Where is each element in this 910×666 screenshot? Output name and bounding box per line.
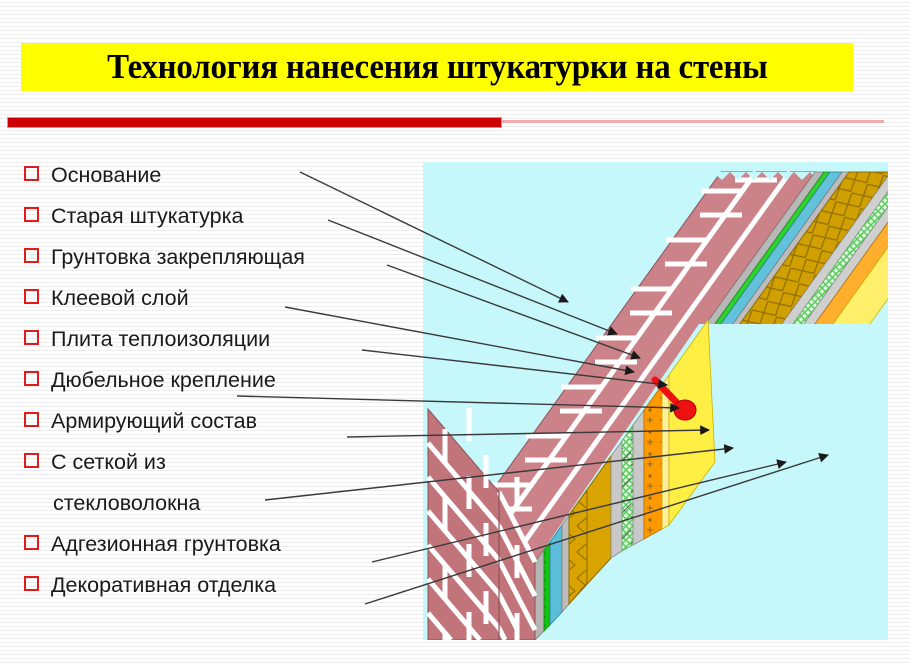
list-item[interactable]: Армирующий состав: [24, 403, 424, 444]
list-item-continuation: стекловолокна: [24, 485, 424, 526]
diagram-render: [423, 162, 888, 640]
list-item-label-wrapped: стекловолокна: [53, 485, 200, 526]
slide-title-box: Технология нанесения штукатурки на стены: [21, 43, 853, 91]
list-item-label: Адгезионная грунтовка: [51, 526, 281, 562]
bullet-square-icon: [24, 535, 39, 550]
L-reinforcing: [611, 441, 622, 558]
bullet-square-icon: [24, 453, 39, 468]
list-item[interactable]: Адгезионная грунтовка: [24, 526, 424, 567]
list-item[interactable]: Декоративная отделка: [24, 567, 424, 608]
bullet-square-icon: [24, 576, 39, 591]
divider-rule-thick: [7, 117, 502, 128]
L-thin-grey: [562, 515, 569, 612]
list-item-label: Армирующий состав: [51, 403, 257, 439]
bullet-square-icon: [24, 330, 39, 345]
L-adhesive: [550, 525, 562, 625]
list-item-label: Грунтовка закрепляющая: [51, 239, 305, 275]
page-title: Технология нанесения штукатурки на стены: [107, 48, 768, 86]
L-levelling: [633, 410, 644, 545]
bullet-square-icon: [24, 166, 39, 181]
list-item-label: С сеткой из: [51, 444, 166, 480]
list-item[interactable]: Основание: [24, 157, 424, 198]
layer-legend-list: Основание Старая штукатурка Грунтовка за…: [24, 157, 424, 608]
list-item[interactable]: С сеткой из: [24, 444, 424, 485]
list-item-label: Плита теплоизоляции: [51, 321, 270, 357]
list-item[interactable]: Старая штукатурка: [24, 198, 424, 239]
bullet-square-icon: [24, 207, 39, 222]
bullet-square-icon: [24, 248, 39, 263]
wall-layers-diagram: [423, 162, 888, 640]
list-item[interactable]: Дюбельное крепление: [24, 362, 424, 403]
L-fixing-primer: [544, 542, 550, 631]
bullet-square-icon: [24, 289, 39, 304]
bullet-square-icon: [24, 371, 39, 386]
L-adhesion-primer: [644, 385, 662, 539]
list-item-label: Основание: [51, 157, 161, 193]
list-item-label: Старая штукатурка: [51, 198, 243, 234]
list-item[interactable]: Плита теплоизоляции: [24, 321, 424, 362]
list-item-label: Дюбельное крепление: [51, 362, 276, 398]
L-mesh-hatch: [622, 425, 633, 551]
list-item[interactable]: Грунтовка закрепляющая: [24, 239, 424, 280]
list-item-label: Декоративная отделка: [51, 567, 276, 603]
bullet-square-icon: [24, 412, 39, 427]
list-item[interactable]: Клеевой слой: [24, 280, 424, 321]
list-item-label: Клеевой слой: [51, 280, 189, 316]
divider-rule-thin: [502, 120, 884, 123]
